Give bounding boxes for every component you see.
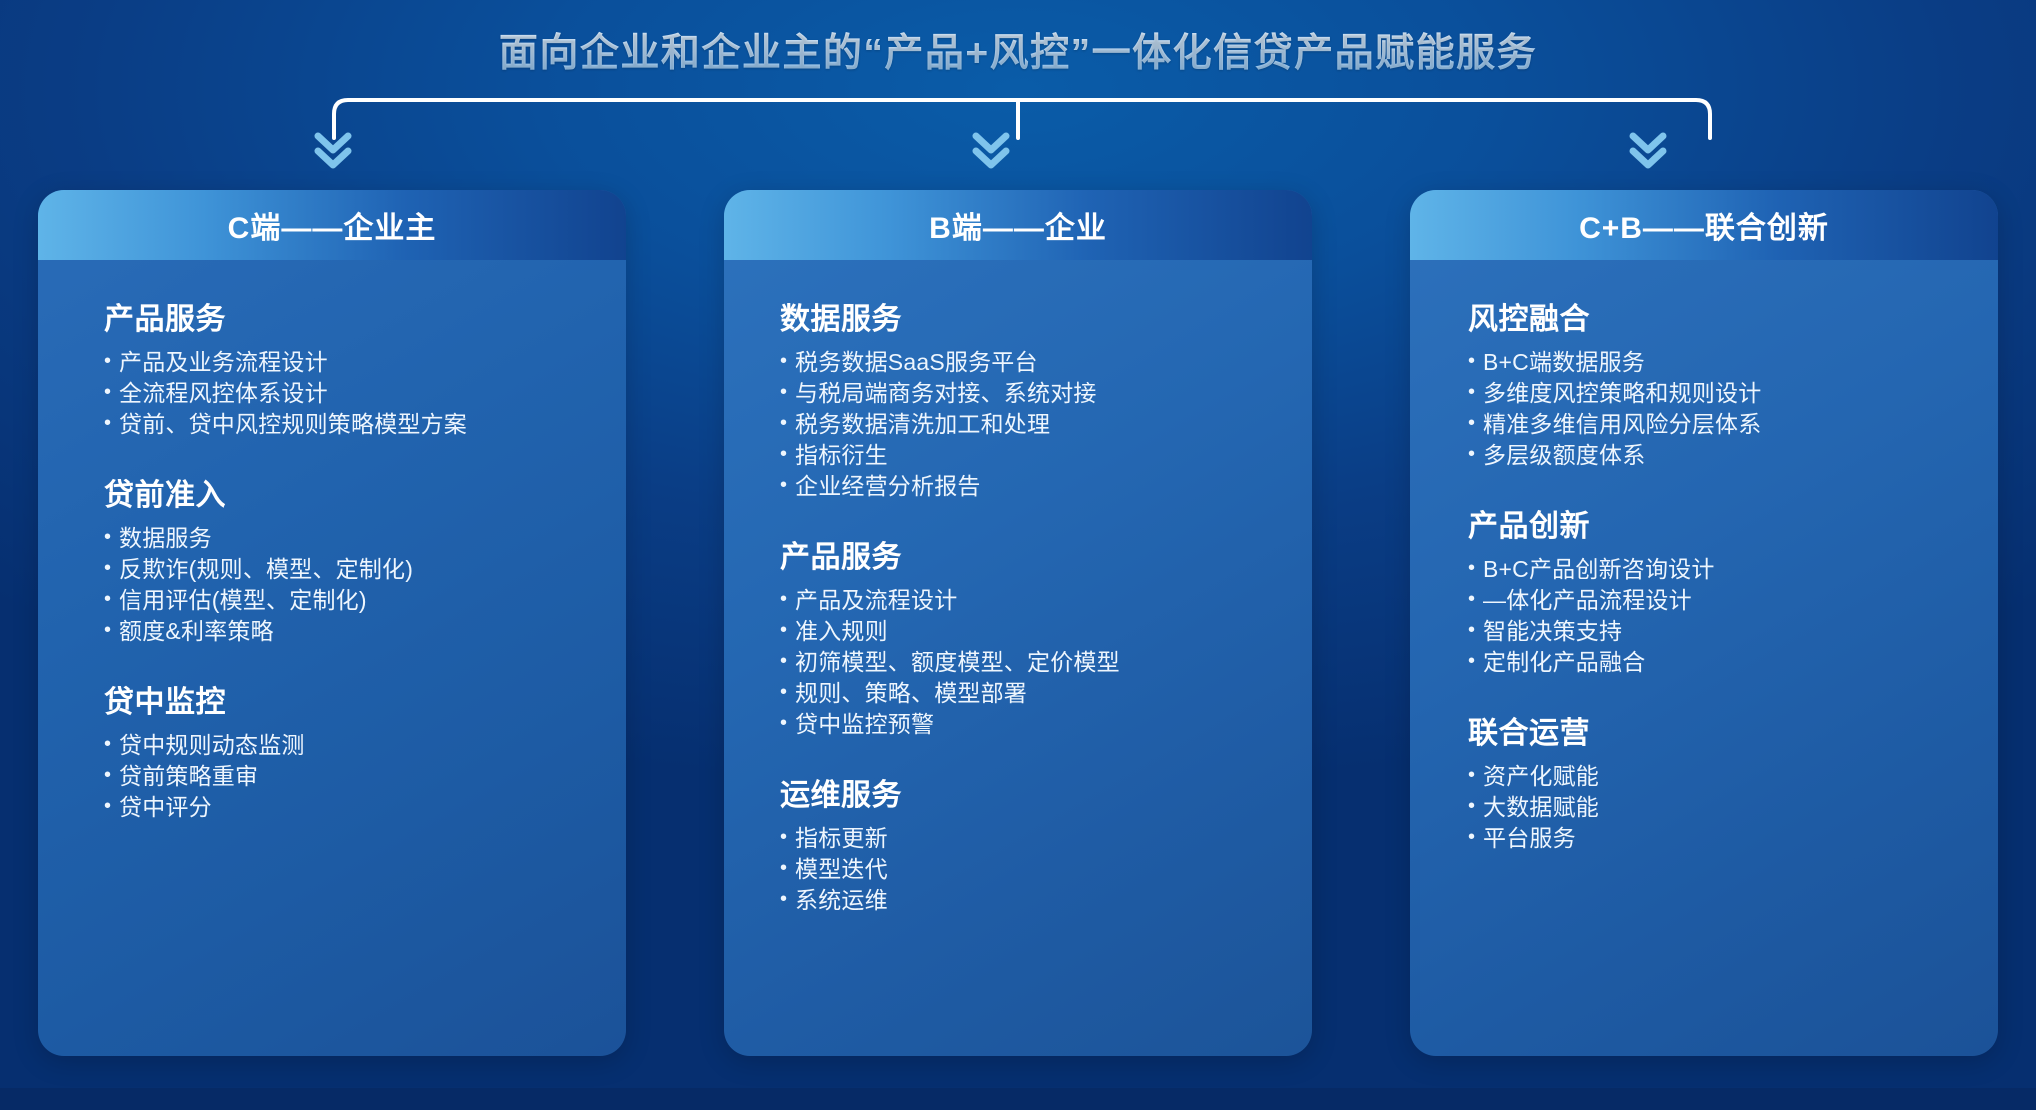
section-title: 贷中监控: [104, 677, 626, 721]
bullet-list: 贷中规则动态监测 贷前策略重审 贷中评分: [104, 730, 626, 823]
section-title: 贷前准入: [104, 470, 626, 514]
list-item: 企业经营分析报告: [780, 471, 1312, 502]
double-chevron-down-icon: [1625, 126, 1671, 172]
list-item: 准入规则: [780, 616, 1312, 647]
column-header-label: C+B——联合创新: [1579, 203, 1829, 247]
section-title: 产品服务: [780, 532, 1312, 576]
column-header: C+B——联合创新: [1410, 190, 1998, 260]
list-item: B+C端数据服务: [1468, 347, 1998, 378]
bullet-list: 数据服务 反欺诈(规则、模型、定制化) 信用评估(模型、定制化) 额度&利率策略: [104, 523, 626, 647]
list-item: 贷中评分: [104, 792, 626, 823]
page-title: 面向企业和企业主的“产品+风控”一体化信贷产品赋能服务: [499, 22, 1537, 78]
section: 风控融合 B+C端数据服务 多维度风控策略和规则设计 精准多维信用风险分层体系 …: [1468, 294, 1998, 471]
list-item: 多维度风控策略和规则设计: [1468, 378, 1998, 409]
slide-background: 面向企业和企业主的“产品+风控”一体化信贷产品赋能服务 C端——企业主 产品服务…: [0, 0, 2036, 1110]
list-item: B+C产品创新咨询设计: [1468, 554, 1998, 585]
column-container: C端——企业主 产品服务 产品及业务流程设计 全流程风控体系设计 贷前、贷中风控…: [0, 190, 2036, 1066]
list-item: 贷中规则动态监测: [104, 730, 626, 761]
list-item: 全流程风控体系设计: [104, 378, 626, 409]
title-bar: 面向企业和企业主的“产品+风控”一体化信贷产品赋能服务: [0, 22, 2036, 78]
section: 数据服务 税务数据SaaS服务平台 与税局端商务对接、系统对接 税务数据清洗加工…: [780, 294, 1312, 502]
list-item: 贷中监控预警: [780, 709, 1312, 740]
bullet-list: 税务数据SaaS服务平台 与税局端商务对接、系统对接 税务数据清洗加工和处理 指…: [780, 347, 1312, 502]
column-header: C端——企业主: [38, 190, 626, 260]
column-card-c-end[interactable]: C端——企业主 产品服务 产品及业务流程设计 全流程风控体系设计 贷前、贷中风控…: [38, 190, 626, 1056]
column-card-b-end[interactable]: B端——企业 数据服务 税务数据SaaS服务平台 与税局端商务对接、系统对接 税…: [724, 190, 1312, 1056]
section-title: 风控融合: [1468, 294, 1998, 338]
list-item: 税务数据清洗加工和处理: [780, 409, 1312, 440]
section: 运维服务 指标更新 模型迭代 系统运维: [780, 770, 1312, 916]
section: 产品服务 产品及业务流程设计 全流程风控体系设计 贷前、贷中风控规则策略模型方案: [104, 294, 626, 440]
list-item: 信用评估(模型、定制化): [104, 585, 626, 616]
list-item: 资产化赋能: [1468, 761, 1998, 792]
list-item: 额度&利率策略: [104, 616, 626, 647]
section-title: 数据服务: [780, 294, 1312, 338]
list-item: 指标衍生: [780, 440, 1312, 471]
column-header-label: C端——企业主: [228, 203, 437, 247]
double-chevron-down-icon: [968, 126, 1014, 172]
list-item: 指标更新: [780, 823, 1312, 854]
list-item: 与税局端商务对接、系统对接: [780, 378, 1312, 409]
list-item: 规则、策略、模型部署: [780, 678, 1312, 709]
section: 联合运营 资产化赋能 大数据赋能 平台服务: [1468, 708, 1998, 854]
list-item: 系统运维: [780, 885, 1312, 916]
section-title: 产品服务: [104, 294, 626, 338]
list-item: 多层级额度体系: [1468, 440, 1998, 471]
section-title: 联合运营: [1468, 708, 1998, 752]
list-item: 大数据赋能: [1468, 792, 1998, 823]
list-item: 精准多维信用风险分层体系: [1468, 409, 1998, 440]
section: 贷中监控 贷中规则动态监测 贷前策略重审 贷中评分: [104, 677, 626, 823]
connector-bracket: [330, 96, 1714, 142]
list-item: —体化产品流程设计: [1468, 585, 1998, 616]
section: 产品服务 产品及流程设计 准入规则 初筛模型、额度模型、定价模型 规则、策略、模…: [780, 532, 1312, 740]
list-item: 智能决策支持: [1468, 616, 1998, 647]
list-item: 初筛模型、额度模型、定价模型: [780, 647, 1312, 678]
list-item: 平台服务: [1468, 823, 1998, 854]
column-body: 风控融合 B+C端数据服务 多维度风控策略和规则设计 精准多维信用风险分层体系 …: [1410, 260, 1998, 854]
section-title: 运维服务: [780, 770, 1312, 814]
section: 产品创新 B+C产品创新咨询设计 —体化产品流程设计 智能决策支持 定制化产品融…: [1468, 501, 1998, 678]
bullet-list: 产品及业务流程设计 全流程风控体系设计 贷前、贷中风控规则策略模型方案: [104, 347, 626, 440]
list-item: 税务数据SaaS服务平台: [780, 347, 1312, 378]
list-item: 贷前、贷中风控规则策略模型方案: [104, 409, 626, 440]
double-chevron-down-icon: [310, 126, 356, 172]
bullet-list: B+C产品创新咨询设计 —体化产品流程设计 智能决策支持 定制化产品融合: [1468, 554, 1998, 678]
column-header: B端——企业: [724, 190, 1312, 260]
section: 贷前准入 数据服务 反欺诈(规则、模型、定制化) 信用评估(模型、定制化) 额度…: [104, 470, 626, 647]
bullet-list: 指标更新 模型迭代 系统运维: [780, 823, 1312, 916]
column-header-label: B端——企业: [929, 203, 1107, 247]
column-card-cb-joint[interactable]: C+B——联合创新 风控融合 B+C端数据服务 多维度风控策略和规则设计 精准多…: [1410, 190, 1998, 1056]
list-item: 产品及业务流程设计: [104, 347, 626, 378]
section-title: 产品创新: [1468, 501, 1998, 545]
list-item: 产品及流程设计: [780, 585, 1312, 616]
list-item: 数据服务: [104, 523, 626, 554]
bullet-list: 资产化赋能 大数据赋能 平台服务: [1468, 761, 1998, 854]
bullet-list: B+C端数据服务 多维度风控策略和规则设计 精准多维信用风险分层体系 多层级额度…: [1468, 347, 1998, 471]
list-item: 贷前策略重审: [104, 761, 626, 792]
column-body: 产品服务 产品及业务流程设计 全流程风控体系设计 贷前、贷中风控规则策略模型方案…: [38, 260, 626, 823]
bullet-list: 产品及流程设计 准入规则 初筛模型、额度模型、定价模型 规则、策略、模型部署 贷…: [780, 585, 1312, 740]
column-body: 数据服务 税务数据SaaS服务平台 与税局端商务对接、系统对接 税务数据清洗加工…: [724, 260, 1312, 916]
list-item: 模型迭代: [780, 854, 1312, 885]
list-item: 反欺诈(规则、模型、定制化): [104, 554, 626, 585]
list-item: 定制化产品融合: [1468, 647, 1998, 678]
